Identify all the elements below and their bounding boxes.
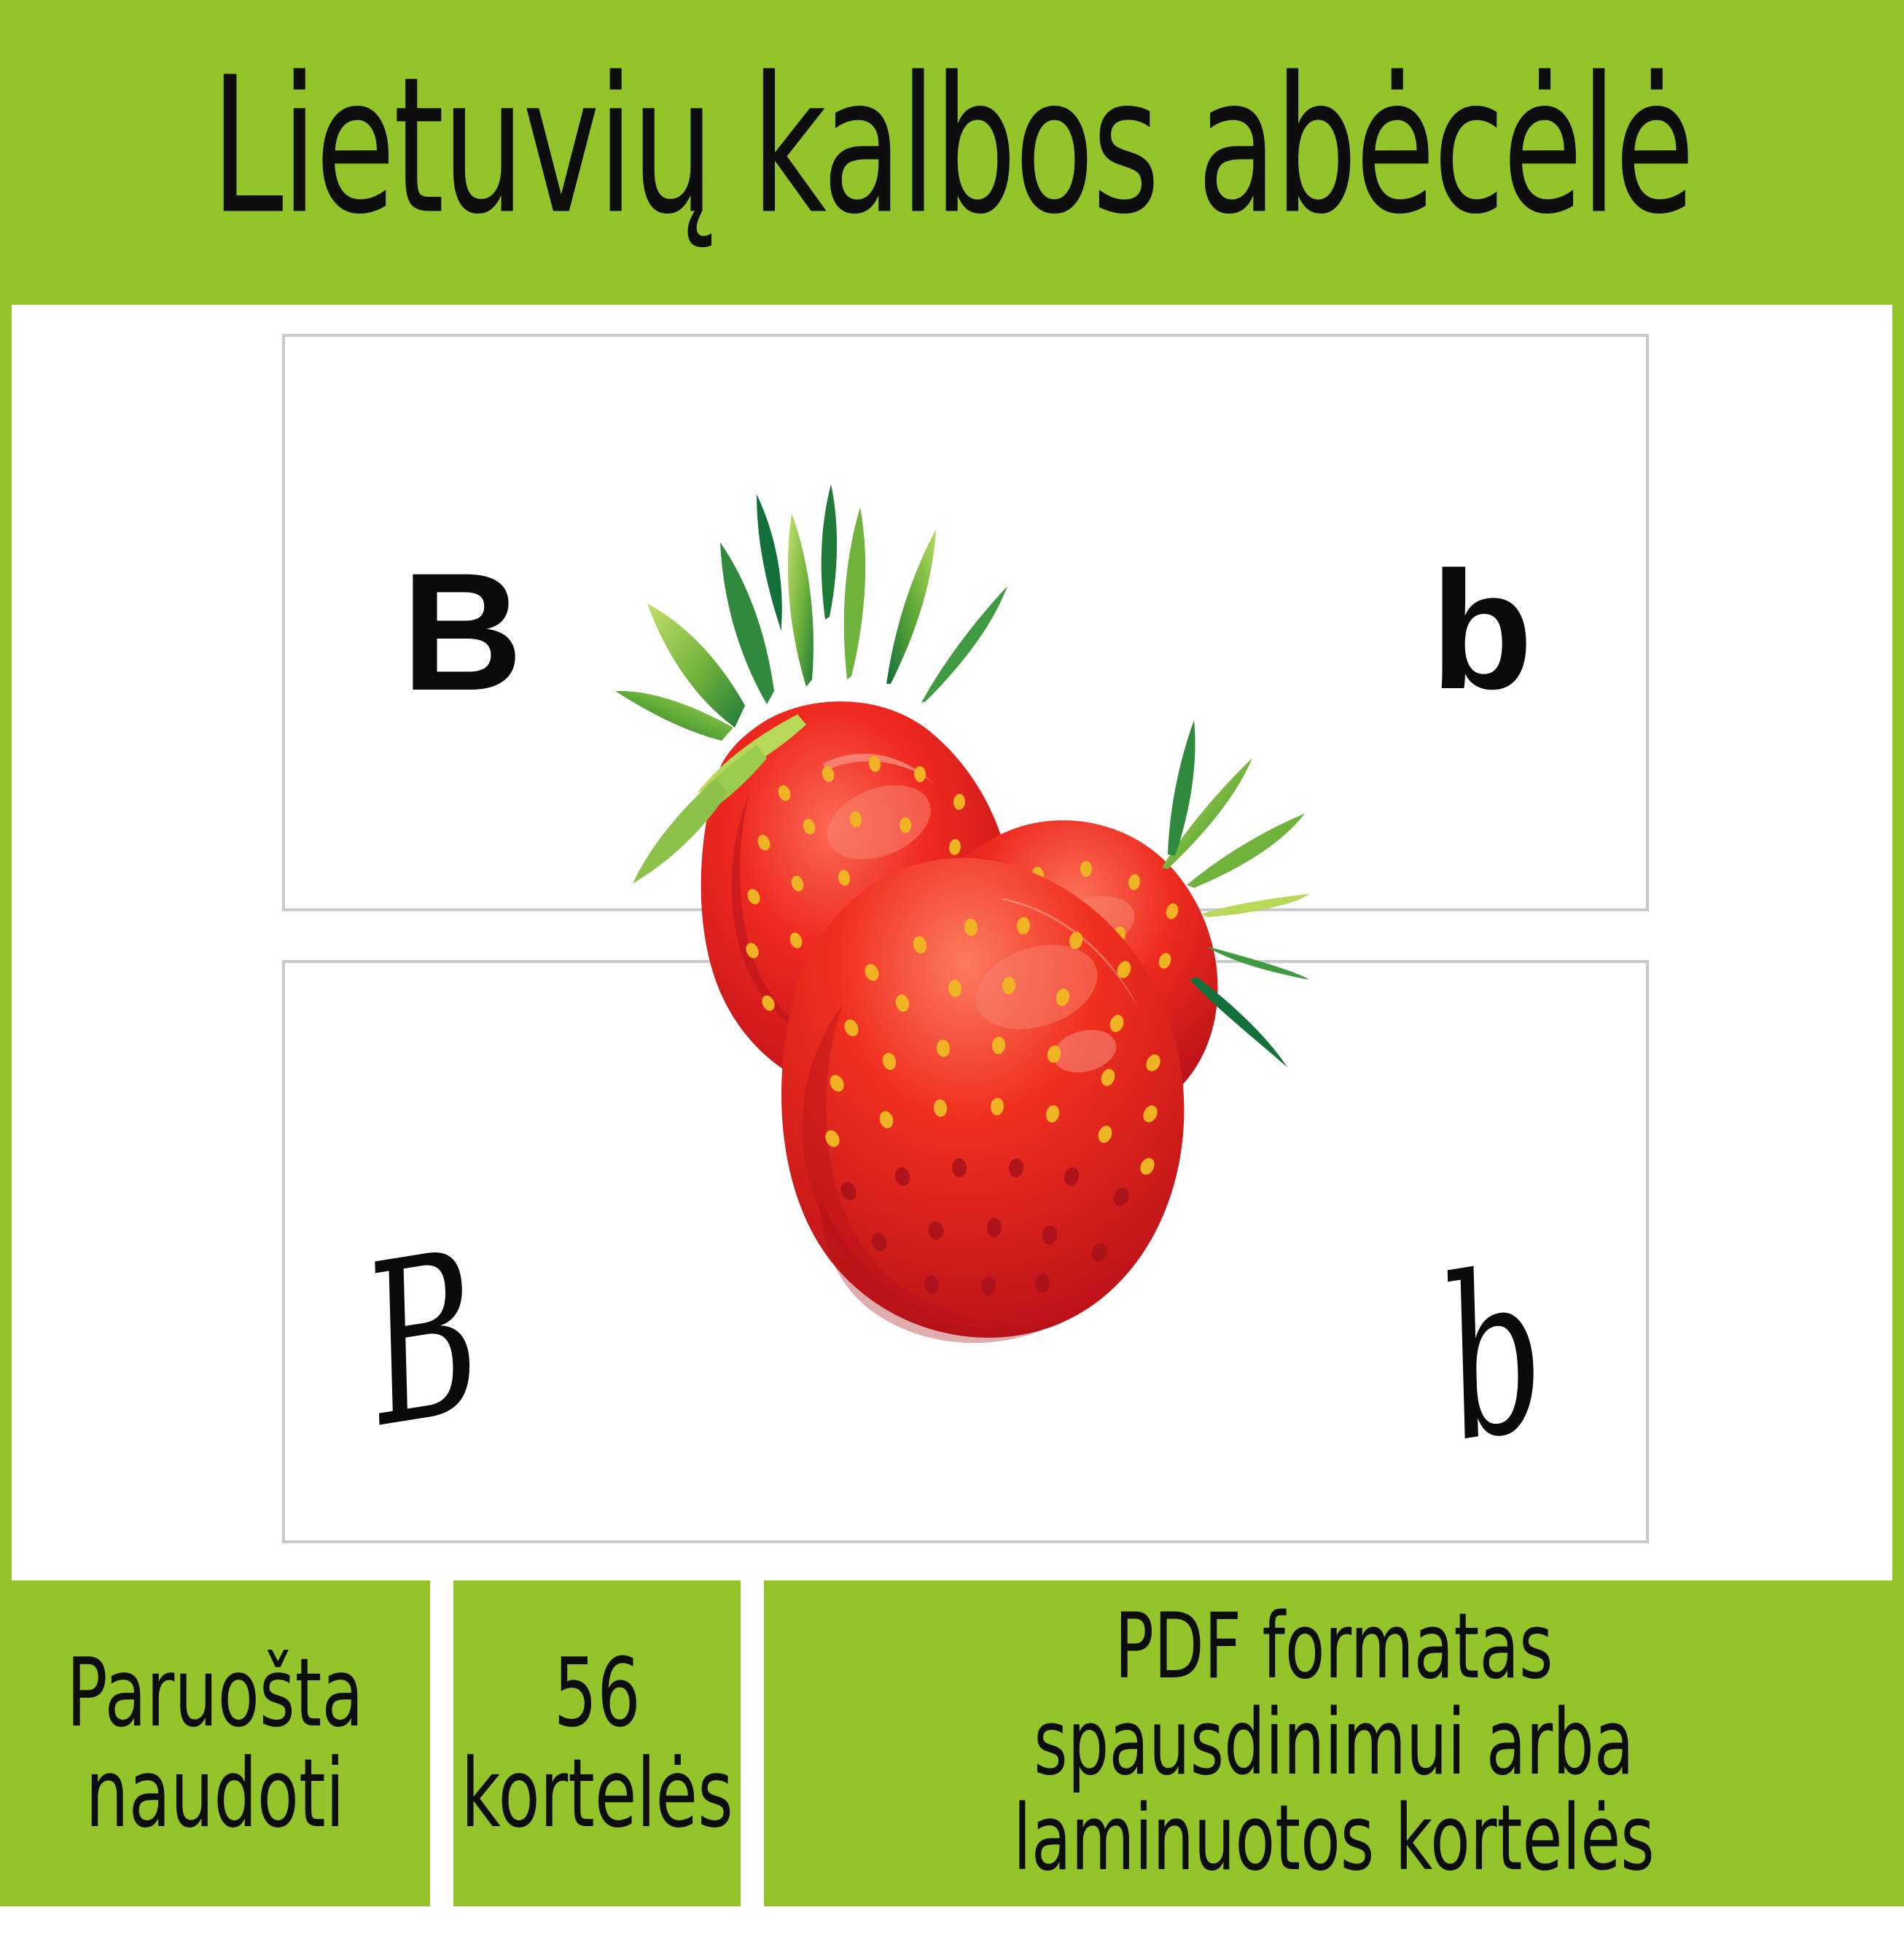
badge-pdf-format-label: PDF formatas spausdinimui arba laminuoto…: [1013, 1599, 1655, 1887]
badge-card-count-label: 56 kortelės: [461, 1643, 733, 1844]
bottom-white-strip: [0, 1906, 1904, 1934]
left-green-rail: [0, 305, 12, 1580]
header-band: Lietuvių kalbos abėcėlė: [0, 0, 1904, 305]
badge-ready-to-use-label: Paruošta naudoti: [66, 1643, 363, 1844]
feature-badge-row: Paruošta naudoti 56 kortelės PDF formata…: [0, 1580, 1904, 1906]
badge-card-count[interactable]: 56 kortelės: [453, 1580, 741, 1906]
cursive-uppercase-letter: B: [352, 1222, 496, 1459]
page-title: Lietuvių kalbos abėcėlė: [211, 52, 1693, 241]
badge-ready-to-use[interactable]: Paruošta naudoti: [0, 1580, 430, 1906]
cursive-lowercase-letter: b: [1429, 1239, 1558, 1474]
flashcard-cursive[interactable]: B b: [282, 960, 1649, 1543]
printed-uppercase-letter: B: [402, 548, 523, 716]
flashcard-printed[interactable]: B b: [282, 334, 1649, 911]
printed-lowercase-letter: b: [1431, 547, 1534, 714]
right-green-rail: [1892, 305, 1904, 1580]
badge-pdf-format[interactable]: PDF formatas spausdinimui arba laminuoto…: [764, 1580, 1904, 1906]
poster-root: Lietuvių kalbos abėcėlė B b B b: [0, 0, 1904, 1934]
cards-stage: B b B b: [12, 305, 1892, 1580]
